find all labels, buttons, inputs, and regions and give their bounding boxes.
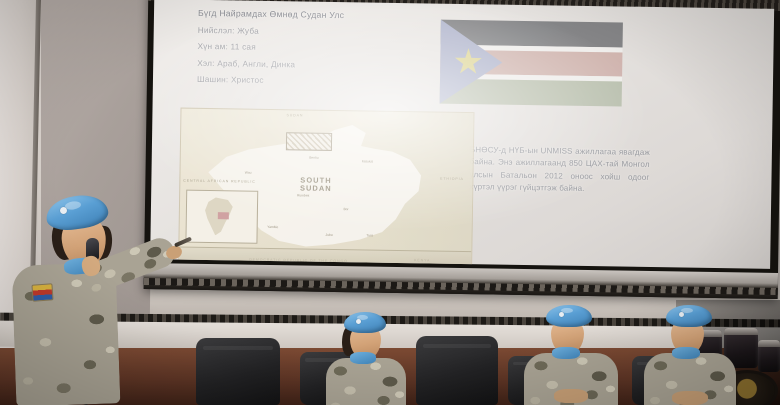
officer-2-neck-scarf bbox=[552, 347, 580, 359]
map-country-label-line2: SUDAN bbox=[300, 184, 332, 192]
map-city-wau: Wau bbox=[245, 170, 252, 174]
seated-officer-2 bbox=[520, 305, 624, 405]
officer-2-un-beret bbox=[546, 305, 592, 327]
screen-surface: Бүгд Найрамдах Өмнөд Судан Улс Нийслэл: … bbox=[150, 0, 774, 269]
slide-bullet-list: Бүгд Найрамдах Өмнөд Судан Улс Нийслэл: … bbox=[197, 8, 448, 95]
map-inset-locator bbox=[185, 190, 258, 244]
presenter bbox=[8, 196, 188, 405]
mongolian-flag-patch-icon bbox=[31, 283, 53, 301]
map-inset-highlight bbox=[217, 212, 228, 219]
officer-1-uniform bbox=[326, 358, 406, 405]
drum-head-3 bbox=[758, 340, 780, 347]
south-sudan-flag bbox=[439, 20, 623, 121]
presentation-photo-scene: Бүгд Найрамдах Өмнөд Судан Улс Нийслэл: … bbox=[0, 0, 780, 405]
map-city-malakal: Malakal bbox=[362, 159, 373, 163]
slide-content: Бүгд Найрамдах Өмнөд Судан Улс Нийслэл: … bbox=[150, 0, 774, 269]
slide-bullet-3: Хэл: Араб, Англи, Динка bbox=[197, 58, 447, 71]
chair-empty-center bbox=[416, 336, 498, 405]
map-neighbour-ethiopia: ETHIOPIA bbox=[440, 177, 464, 181]
slide-paragraph: БНӨСУ-д НҮБ-ын UNMISS ажиллагаа явагдаж … bbox=[469, 144, 650, 196]
map-city-yambio: Yambio bbox=[267, 225, 278, 229]
south-sudan-map: SOUTH SUDAN SUDAN CENTRAL AFRICAN REPUBL… bbox=[178, 108, 475, 269]
projection-screen: Бүгд Найрамдах Өмнөд Судан Улс Нийслэл: … bbox=[144, 0, 780, 299]
officer-3-neck-scarf bbox=[672, 347, 700, 359]
map-neighbour-car: CENTRAL AFRICAN REPUBLIC bbox=[183, 179, 255, 184]
slide-bullet-2: Хүн ам: 11 сая bbox=[197, 42, 447, 55]
presenter-beret-badge-icon bbox=[60, 207, 67, 214]
map-city-bor: Bor bbox=[343, 207, 348, 211]
officer-1-un-beret bbox=[344, 312, 386, 333]
officer-3-beret-badge-icon bbox=[679, 312, 684, 317]
map-neighbour-sudan: SUDAN bbox=[287, 113, 304, 117]
chair-empty-left bbox=[196, 338, 280, 405]
map-city-bentiu: Bentiu bbox=[309, 155, 318, 159]
officer-3-un-beret bbox=[666, 305, 712, 327]
officer-1-beret-badge-icon bbox=[356, 319, 361, 324]
seated-officer-3 bbox=[642, 305, 746, 405]
officer-1-neck-scarf bbox=[350, 352, 376, 364]
officer-2-hands bbox=[554, 389, 588, 403]
officer-3-hands bbox=[672, 391, 708, 405]
map-country-label: SOUTH SUDAN bbox=[300, 176, 332, 192]
map-disputed-area bbox=[286, 133, 332, 152]
map-city-torit: Torit bbox=[366, 233, 372, 237]
officer-2-beret-badge-icon bbox=[559, 312, 564, 317]
seated-officer-1 bbox=[318, 312, 414, 405]
slide-bullet-1: Нийслэл: Жуба bbox=[198, 25, 448, 38]
drum-tom-3 bbox=[758, 340, 780, 372]
map-city-rumbek: Rumbek bbox=[297, 194, 309, 198]
map-city-juba: Juba bbox=[326, 232, 333, 236]
slide-bullet-4: Шашин: Христос bbox=[197, 75, 447, 88]
slide-bullet-0: Бүгд Найрамдах Өмнөд Судан Улс bbox=[198, 8, 448, 22]
